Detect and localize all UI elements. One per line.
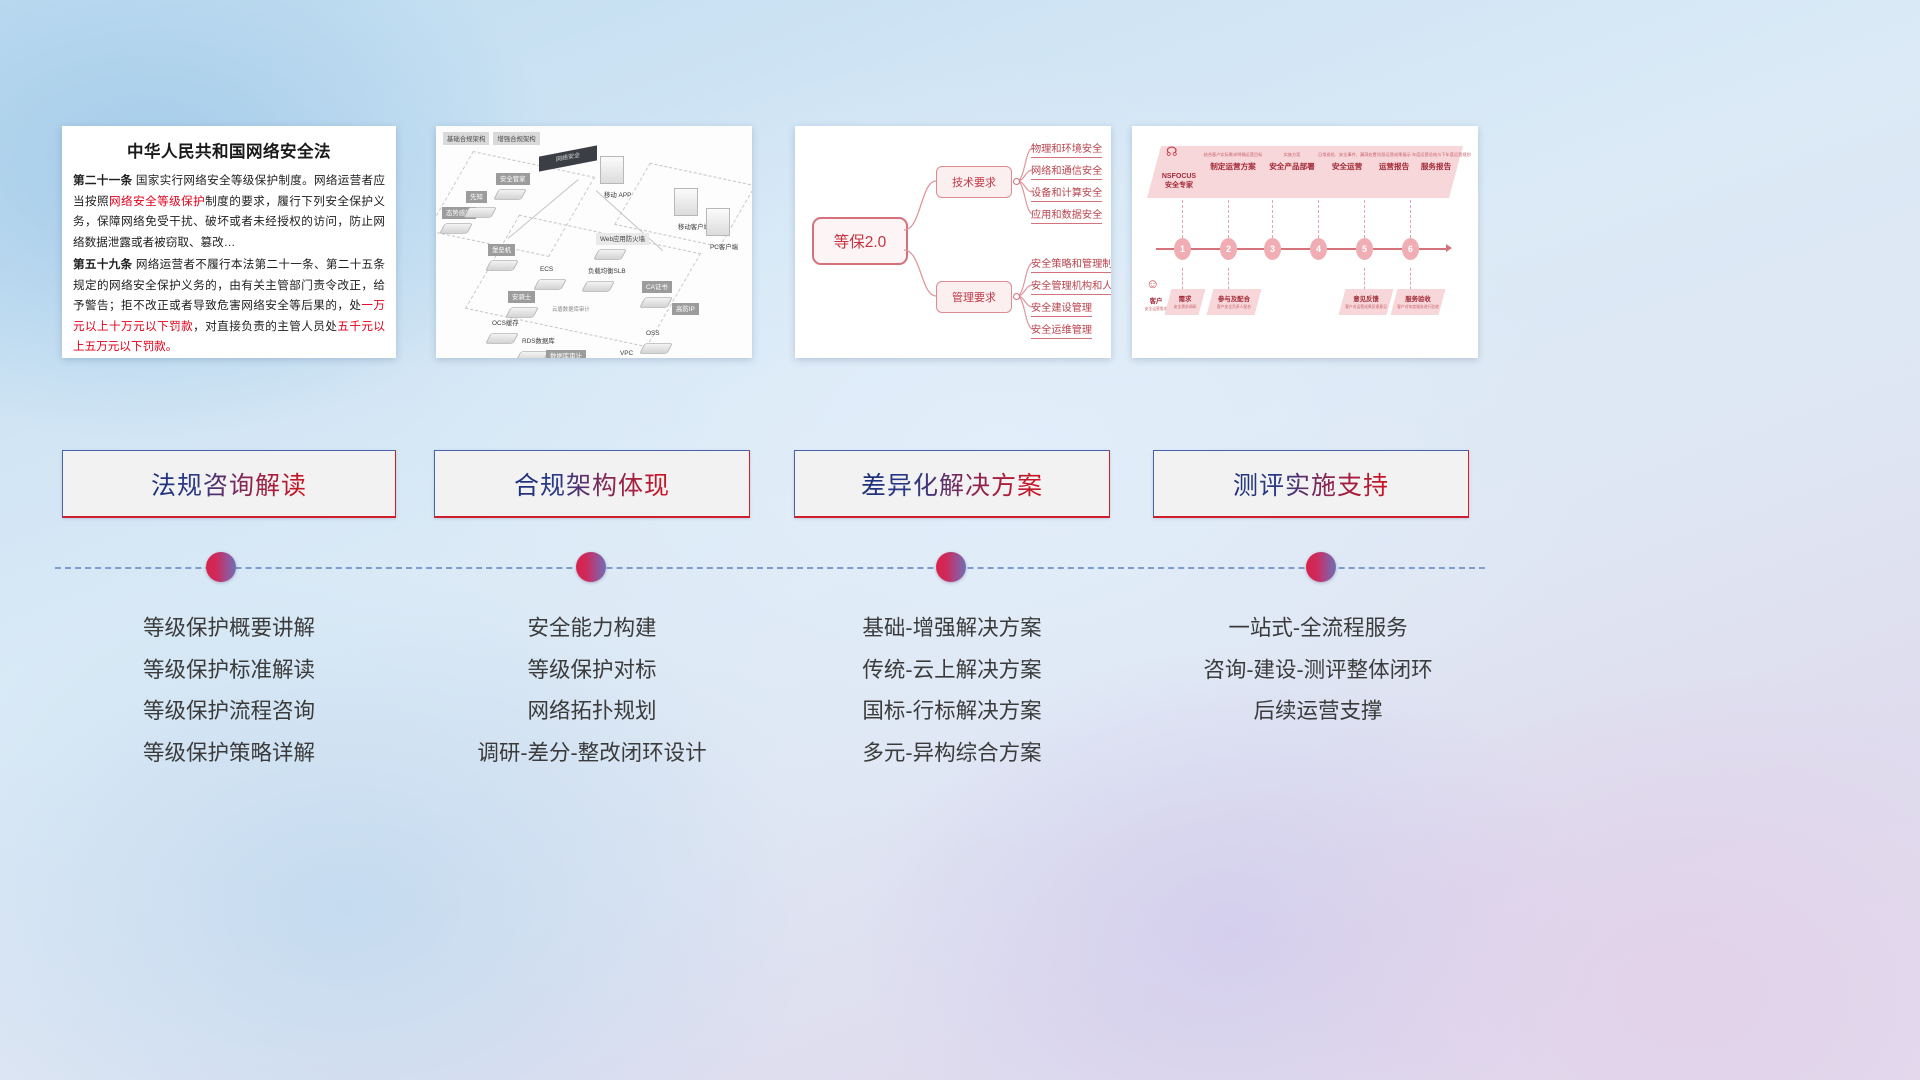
timeline-node-4: 4 [1310, 238, 1327, 260]
mindmap-leaf: 物理和环境安全 [1031, 140, 1102, 158]
card-compliance-architecture: 基础合规架构 增强合规架构 网络安全 态势感知 先知 安全管家 堡垒机 W [436, 126, 752, 358]
stage-header-2[interactable]: 合规架构体现 [434, 450, 750, 518]
poster-stage: 中华人民共和国网络安全法 第二十一条 国家实行网络安全等级保护制度。网络运营者应… [0, 0, 1920, 1080]
mindmap-branch-management: 管理要求 [936, 281, 1012, 313]
device-icon [600, 156, 624, 184]
mindmap-leaf: 网络和通信安全 [1031, 162, 1102, 180]
node-vpc: VPC [616, 342, 637, 358]
timeline-dot-3[interactable] [936, 552, 966, 582]
timeline-dot-4[interactable] [1306, 552, 1336, 582]
list-item: 国标-行标解决方案 [794, 691, 1110, 733]
list-item: 等级保护流程咨询 [62, 691, 396, 733]
disk-icon [515, 351, 549, 358]
list-item: 后续运营支撑 [1153, 691, 1483, 733]
architecture-tag-basic: 基础合规架构 [443, 132, 489, 145]
list-item: 传统-云上解决方案 [794, 650, 1110, 692]
disk-icon [581, 281, 615, 292]
nsfocus-bottom-1: 需求 安全需求调研 [1164, 294, 1206, 310]
stage-list-3: 基础-增强解决方案 传统-云上解决方案 国标-行标解决方案 多元-异构综合方案 [794, 608, 1110, 774]
article-59-number: 第五十九条 [73, 258, 132, 271]
law-article-59: 第五十九条 网络运营者不履行本法第二十一条、第二十五条规定的网络安全保护义务的，… [73, 255, 385, 358]
nsfocus-step-5: 年度运营总结与下年度运营规划 服务报告 [1412, 152, 1460, 172]
stage-list-1: 等级保护概要讲解 等级保护标准解读 等级保护流程咨询 等级保护策略详解 [62, 608, 396, 774]
disk-icon [485, 260, 519, 271]
tick-line [1272, 200, 1274, 238]
tick-line [1364, 200, 1366, 238]
node-ca-cert: CA证书 [642, 276, 672, 310]
nsfocus-step-3: 日常巡检、安全事件、漏洞处置 安全运营 [1318, 152, 1376, 172]
node-cloud-db-audit: 云盾数据库审计 [548, 298, 594, 316]
architecture-tag-enhanced: 增强合规架构 [493, 132, 539, 145]
nsfocus-brand: NSFOCUS 安全专家 [1156, 172, 1202, 190]
disk-icon [439, 223, 473, 234]
disk-icon [593, 249, 627, 260]
nsfocus-step-4: 阶段运营成果展示 运营报告 [1372, 152, 1416, 172]
node-db-audit: 数据库审计 [546, 345, 586, 358]
mindmap-leaf: 安全运维管理 [1031, 321, 1092, 339]
list-item: 多元-异构综合方案 [794, 733, 1110, 775]
node-ecs: ECS [536, 258, 564, 292]
card-cybersecurity-law: 中华人民共和国网络安全法 第二十一条 国家实行网络安全等级保护制度。网络运营者应… [62, 126, 396, 358]
timeline-node-1: 1 [1174, 238, 1191, 260]
architecture-diagram: 基础合规架构 增强合规架构 网络安全 态势感知 先知 安全管家 堡垒机 W [436, 126, 752, 358]
timeline-dot-2[interactable] [576, 552, 606, 582]
list-item: 等级保护策略详解 [62, 733, 396, 775]
timeline-node-2: 2 [1220, 238, 1237, 260]
tick-line [1182, 200, 1184, 238]
article-21-number: 第二十一条 [73, 174, 132, 187]
node-mobile-app: 移动 APP [600, 156, 635, 202]
timeline-node-5: 5 [1356, 238, 1373, 260]
card-dengbao-mindmap: 等保2.0 技术要求 物理和环境安全 网络和通信安全 设备和计算安全 应用和数据… [795, 126, 1111, 358]
disk-icon [639, 297, 673, 308]
stage-header-4[interactable]: 测评实施支持 [1153, 450, 1469, 518]
person-icon: ☊ [1166, 144, 1178, 160]
disk-icon [463, 207, 497, 218]
stage-list-2: 安全能力构建 等级保护对标 网络拓扑规划 调研-差分-整改闭环设计 [434, 608, 750, 774]
mindmap-leaf: 设备和计算安全 [1031, 184, 1102, 202]
node-pc-client: PC客户端 [706, 208, 742, 254]
stage-list-4: 一站式-全流程服务 咨询-建设-测评整体闭环 后续运营支撑 [1153, 608, 1483, 733]
timeline-dot-1[interactable] [206, 552, 236, 582]
list-item: 等级保护对标 [434, 650, 750, 692]
customer-icon: ☺ [1146, 276, 1159, 291]
timeline-node-6: 6 [1402, 238, 1419, 260]
nsfocus-step-2: 实施方案 安全产品部署 [1264, 152, 1320, 172]
tick-line [1318, 200, 1320, 238]
list-item: 网络拓扑规划 [434, 691, 750, 733]
nsfocus-banner-content: ☊ NSFOCUS 安全专家 结合客户实际需求明确运营目标 制定运营方案 实施方… [1154, 146, 1456, 198]
disk-icon [639, 343, 673, 354]
tick-line [1410, 200, 1412, 238]
node-oss: OSS [642, 322, 670, 356]
stage-header-1[interactable]: 法规咨询解读 [62, 450, 396, 518]
stage-header-3[interactable]: 差异化解决方案 [794, 450, 1110, 518]
nsfocus-bottom-4: 服务验收 客户对年度服务进行验收 [1392, 294, 1444, 310]
stage-header-3-label: 差异化解决方案 [861, 466, 1043, 502]
list-item: 调研-差分-整改闭环设计 [434, 733, 750, 775]
article-59-mid: ，对直接负责的主管人员处 [193, 320, 337, 333]
mindmap-leaf: 应用和数据安全 [1031, 206, 1102, 224]
stage-header-1-label: 法规咨询解读 [151, 466, 307, 502]
disk-icon [493, 189, 527, 200]
node-anti-ddos-ip: 高防IP [672, 298, 699, 316]
stage-header-4-label: 测评实施支持 [1233, 466, 1389, 502]
list-item: 等级保护概要讲解 [62, 608, 396, 650]
law-document: 中华人民共和国网络安全法 第二十一条 国家实行网络安全等级保护制度。网络运营者应… [62, 126, 396, 358]
timeline-dashed-line [55, 567, 1485, 569]
tick-line [1228, 200, 1230, 238]
article-21-highlight: 网络安全等级保护 [109, 195, 205, 208]
disk-icon [533, 279, 567, 290]
node-waf: Web应用防火墙 [596, 228, 649, 262]
mindmap-branch-technical: 技术要求 [936, 166, 1012, 198]
list-item: 基础-增强解决方案 [794, 608, 1110, 650]
card-nsfocus-service-timeline: ☊ NSFOCUS 安全专家 结合客户实际需求明确运营目标 制定运营方案 实施方… [1132, 126, 1478, 358]
mindmap-leaf: 安全策略和管理制度 [1031, 255, 1111, 273]
node-xianzhi: 先知 [466, 186, 494, 220]
list-item: 一站式-全流程服务 [1153, 608, 1483, 650]
architecture-tag-row: 基础合规架构 增强合规架构 [443, 132, 540, 145]
mindmap: 等保2.0 技术要求 物理和环境安全 网络和通信安全 设备和计算安全 应用和数据… [795, 126, 1111, 358]
nsfocus-bottom-2: 参与及配合 客户安全负责人配合 [1208, 294, 1260, 310]
mindmap-collapse-icon[interactable] [1013, 178, 1020, 185]
node-slb: 负载均衡SLB [584, 260, 630, 294]
mindmap-collapse-icon[interactable] [1013, 293, 1020, 300]
nsfocus-timeline: ☊ NSFOCUS 安全专家 结合客户实际需求明确运营目标 制定运营方案 实施方… [1132, 126, 1478, 358]
device-icon [706, 208, 730, 236]
list-item: 等级保护标准解读 [62, 650, 396, 692]
list-item: 安全能力构建 [434, 608, 750, 650]
architecture-dark-label: 网络安全 [539, 145, 597, 171]
mindmap-leaf: 安全建设管理 [1031, 299, 1092, 317]
device-icon [674, 188, 698, 216]
timeline-node-3: 3 [1264, 238, 1281, 260]
nsfocus-bottom-3: 意见反馈 客户对运营成果反馈意见 [1340, 294, 1392, 310]
disk-icon [485, 333, 519, 344]
node-bastion-host: 堡垒机 [488, 239, 516, 273]
law-title: 中华人民共和国网络安全法 [73, 138, 385, 162]
law-article-21: 第二十一条 国家实行网络安全等级保护制度。网络运营者应当按照网络安全等级保护制度… [73, 171, 385, 253]
nsfocus-step-1: 结合客户实际需求明确运营目标 制定运营方案 [1202, 152, 1264, 172]
mindmap-leaf: 安全管理机构和人员 [1031, 277, 1111, 295]
node-security-housekeeper: 安全管家 [496, 168, 530, 202]
stage-header-2-label: 合规架构体现 [514, 466, 670, 502]
arrow-icon [1446, 244, 1452, 252]
list-item: 咨询-建设-测评整体闭环 [1153, 650, 1483, 692]
